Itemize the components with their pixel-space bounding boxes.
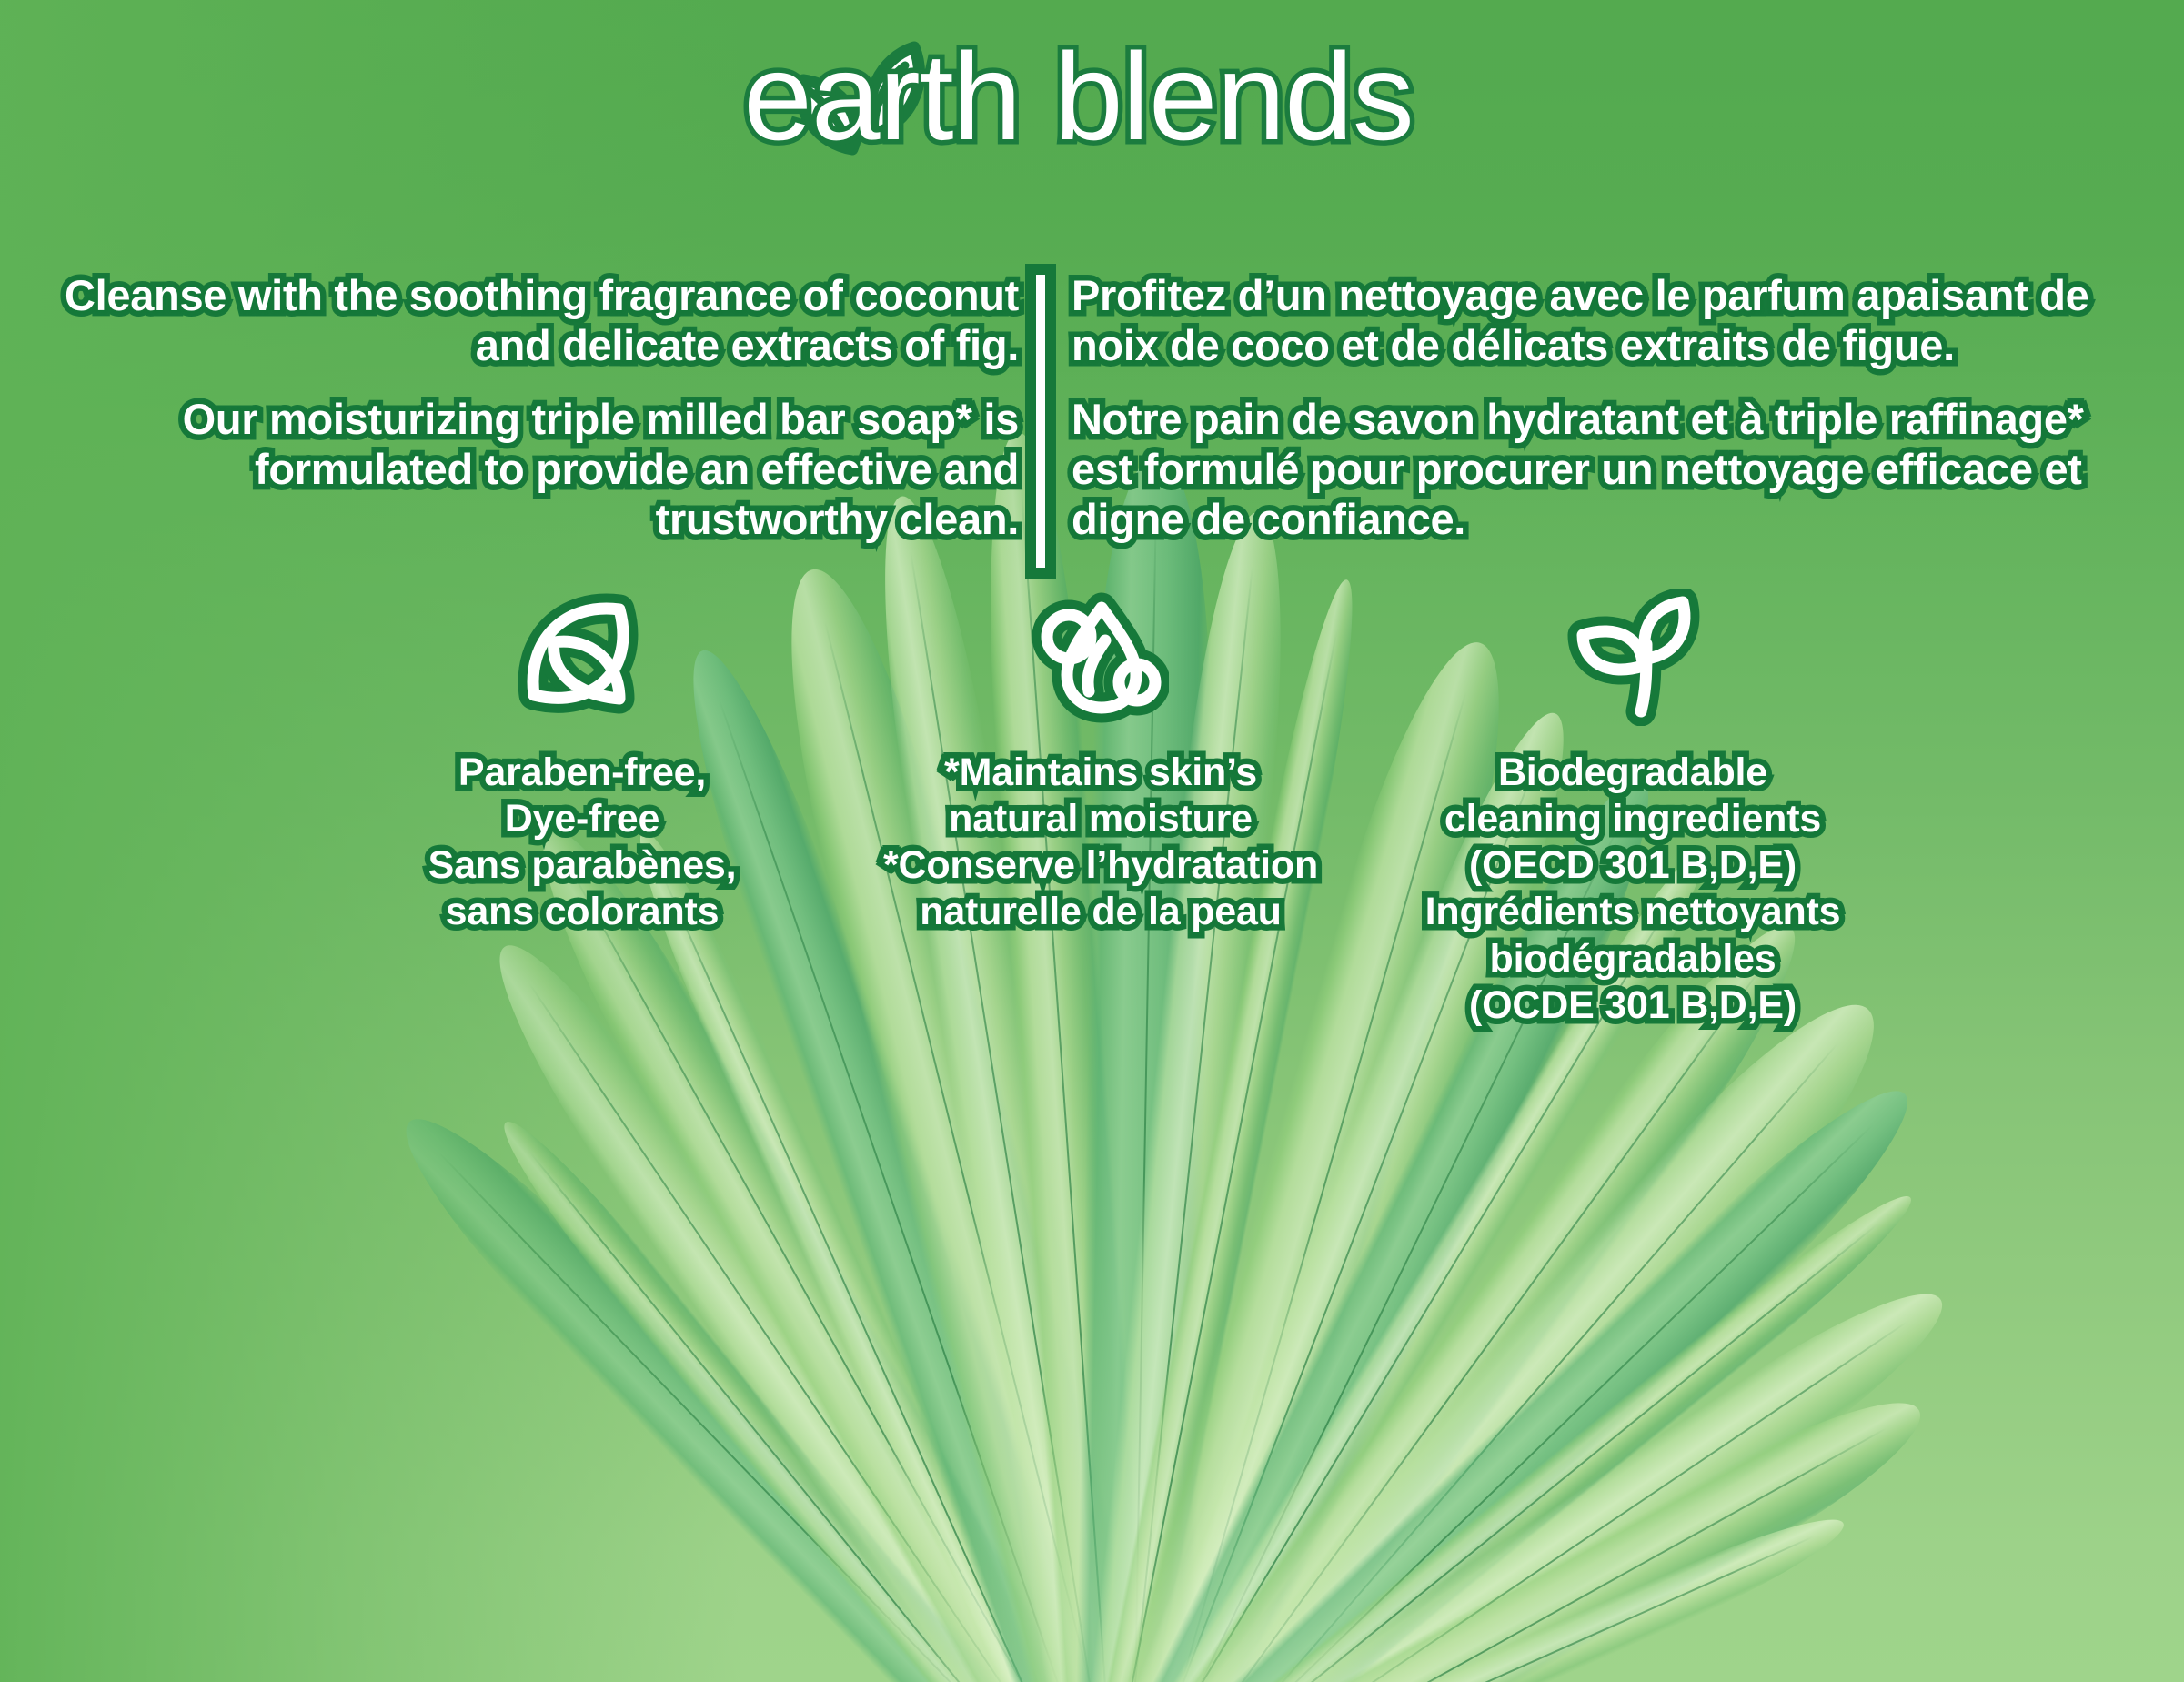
sprout-icon-wrapper — [1355, 589, 1910, 726]
water-droplet-icon — [1032, 589, 1169, 726]
leaf-icon-wrapper — [309, 589, 855, 726]
feature-3-text-fr: Ingrédients nettoyants biodégradables (O… — [1355, 889, 1910, 1028]
water-droplet-icon-wrapper — [828, 589, 1374, 726]
description-en-paragraph-2: Our moisturizing triple milled bar soap*… — [64, 395, 1019, 545]
feature-maintains-moisture: *Maintains skin’s natural moisture *Cons… — [828, 589, 1374, 936]
feature-3-text-en: Biodegradable cleaning ingredients (OECD… — [1355, 750, 1910, 889]
feature-2-text-fr: *Conserve l’hydratation naturelle de la … — [828, 842, 1374, 935]
features-section: Paraben-free, Dye-free Sans parabènes, s… — [0, 589, 2184, 1135]
description-english: Cleanse with the soothing fragrance of c… — [64, 271, 1019, 545]
feature-2-text-en: *Maintains skin’s natural moisture — [828, 750, 1374, 842]
vertical-divider — [1036, 275, 1045, 568]
description-en-paragraph-1: Cleanse with the soothing fragrance of c… — [64, 271, 1019, 371]
brand-name: earth blends — [743, 35, 1414, 158]
description-fr-paragraph-2: Notre pain de savon hydratant et à tripl… — [1072, 395, 2090, 545]
feature-biodegradable: Biodegradable cleaning ingredients (OECD… — [1355, 589, 1910, 1029]
feature-paraben-free: Paraben-free, Dye-free Sans parabènes, s… — [309, 589, 855, 936]
description-french: Profitez d’un nettoyage avec le parfum a… — [1072, 271, 2090, 545]
description-section: Cleanse with the soothing fragrance of c… — [0, 271, 2184, 580]
product-packaging-panel: earth blends Cleanse with the soothing f… — [0, 0, 2184, 1682]
leaf-icon — [514, 589, 650, 726]
sprout-icon — [1563, 589, 1704, 726]
feature-1-text-en: Paraben-free, Dye-free — [309, 750, 855, 842]
feature-1-text-fr: Sans parabènes, sans colorants — [309, 842, 855, 935]
brand-logo: earth blends — [0, 35, 2184, 158]
description-fr-paragraph-1: Profitez d’un nettoyage avec le parfum a… — [1072, 271, 2090, 371]
